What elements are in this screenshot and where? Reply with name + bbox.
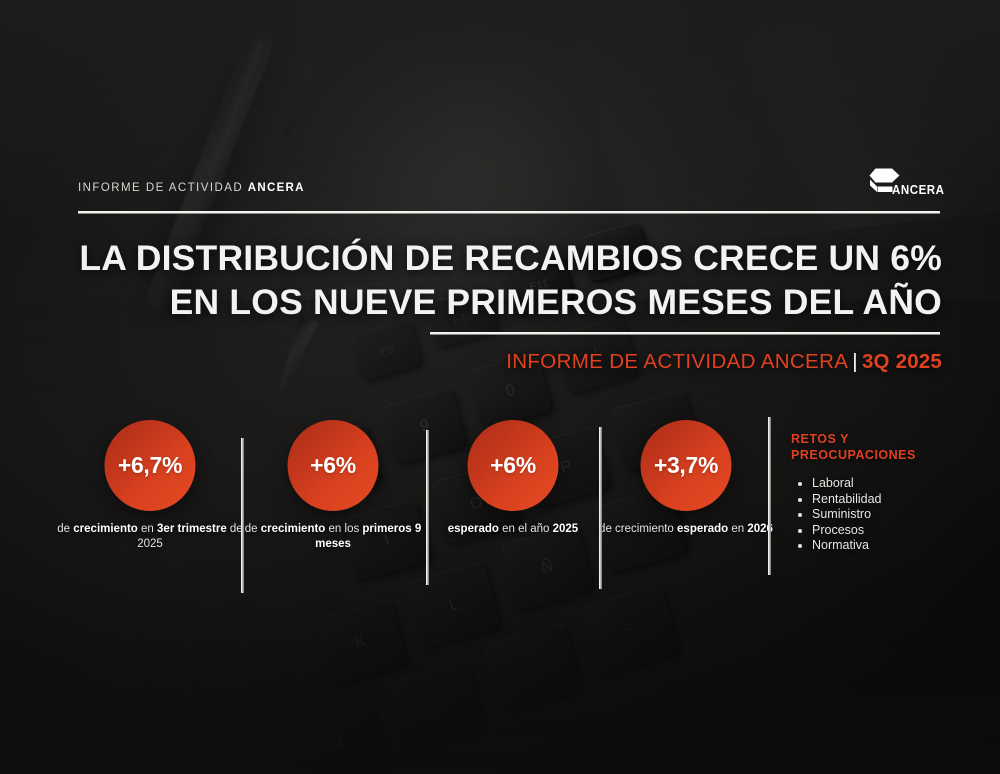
caption-text: en el año (499, 523, 553, 535)
caption-emphasis: 2025 (553, 523, 579, 535)
caption-emphasis: 3er trimestre (157, 523, 227, 535)
eyebrow-prefix: INFORME DE ACTIVIDAD (78, 182, 248, 194)
stat-value-1: +6,7% (118, 454, 182, 477)
title-line-1: LA DISTRIBUCIÓN DE RECAMBIOS CRECE UN 6% (60, 236, 942, 280)
caption-emphasis: esperado (448, 523, 499, 535)
risks-list: LaboralRentabilidadSuministroProcesosNor… (791, 476, 991, 554)
subtitle-text: INFORME DE ACTIVIDAD ANCERA (506, 350, 848, 373)
header-divider (78, 211, 940, 214)
page-title: LA DISTRIBUCIÓN DE RECAMBIOS CRECE UN 6%… (60, 236, 942, 324)
ancera-logo-text: ANCERA (892, 183, 945, 197)
stat-divider-3 (599, 427, 602, 589)
stat-caption-1: de crecimiento en 3er trimestre de 2025 (57, 522, 243, 552)
stat-caption-2: de crecimiento en los primeros 9 meses (240, 522, 426, 552)
caption-text: de crecimiento (599, 523, 677, 535)
eyebrow-label: INFORME DE ACTIVIDAD ANCERA (78, 182, 305, 194)
stat-value-2: +6% (310, 454, 356, 477)
subtitle-separator: | (852, 350, 858, 373)
caption-text: de (57, 523, 73, 535)
risks-list-item: Normativa (812, 538, 991, 554)
stat-caption-4: de crecimiento esperado en 2026 (593, 522, 779, 537)
title-divider (430, 332, 940, 335)
stat-value-3: +6% (490, 454, 536, 477)
risks-title: RETOS Y PREOCUPACIONES (791, 432, 991, 463)
risks-list-item: Procesos (812, 523, 991, 539)
stat-circle-2: +6% (288, 420, 379, 511)
risks-block: RETOS Y PREOCUPACIONES LaboralRentabilid… (791, 432, 991, 554)
stat-value-4: +3,7% (654, 454, 718, 477)
stat-divider-2 (426, 430, 429, 585)
caption-text: en (138, 523, 157, 535)
caption-emphasis: crecimiento (261, 523, 326, 535)
subtitle-period: 3Q 2025 (862, 350, 942, 373)
caption-text: en (728, 523, 747, 535)
stat-circle-3: +6% (468, 420, 559, 511)
risks-title-line-1: RETOS Y (791, 432, 849, 446)
eyebrow-brand: ANCERA (248, 182, 305, 194)
risks-title-line-2: PREOCUPACIONES (791, 448, 916, 462)
stat-circle-1: +6,7% (105, 420, 196, 511)
stat-divider-4 (768, 417, 771, 575)
caption-text: de (245, 523, 261, 535)
caption-emphasis: esperado (677, 523, 728, 535)
caption-text: en los (325, 523, 362, 535)
infographic-content: INFORME DE ACTIVIDAD ANCERA ANCERA LA DI… (0, 0, 1000, 774)
report-subtitle: INFORME DE ACTIVIDAD ANCERA|3Q 2025 (60, 350, 942, 374)
stat-caption-3: esperado en el año 2025 (420, 522, 606, 537)
title-line-2: EN LOS NUEVE PRIMEROS MESES DEL AÑO (60, 280, 942, 324)
risks-list-item: Suministro (812, 507, 991, 523)
stat-divider-1 (241, 438, 244, 593)
caption-emphasis: crecimiento (73, 523, 138, 535)
risks-list-item: Laboral (812, 476, 991, 492)
stat-circle-4: +3,7% (641, 420, 732, 511)
ancera-logo: ANCERA (868, 167, 942, 199)
risks-list-item: Rentabilidad (812, 492, 991, 508)
